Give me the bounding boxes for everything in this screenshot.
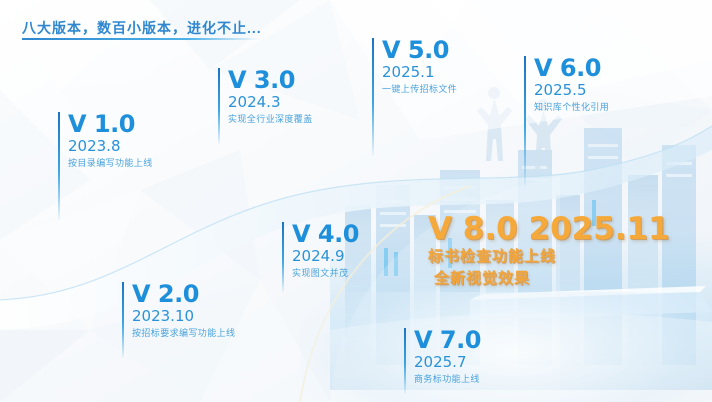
milestone-version: V 3.0 bbox=[228, 68, 313, 93]
milestone-connector-bar bbox=[122, 282, 124, 358]
milestone-description: 知识库个性化引用 bbox=[534, 100, 609, 114]
highlight-version: V 8.0 bbox=[428, 211, 518, 247]
milestone-description: 实现图文并茂 bbox=[292, 266, 359, 280]
milestone-date: 2023.8 bbox=[68, 137, 153, 156]
milestone-version: V 5.0 bbox=[382, 38, 457, 63]
milestone-date: 2025.5 bbox=[534, 81, 609, 100]
page-title: 八大版本，数百小版本，进化不止... bbox=[22, 18, 262, 38]
milestone-connector-bar bbox=[58, 112, 60, 220]
milestone-item: V 3.02024.3实现全行业深度覆盖 bbox=[218, 68, 313, 126]
highlight-date: 2025.11 bbox=[529, 211, 670, 247]
milestone-connector-bar bbox=[282, 222, 284, 292]
milestone-date: 2025.1 bbox=[382, 63, 457, 82]
milestone-description: 按目录编写功能上线 bbox=[68, 156, 153, 170]
milestone-version: V 4.0 bbox=[292, 222, 359, 247]
version-timeline-poster: 八大版本，数百小版本，进化不止... V 1.02023.8按目录编写功能上线V… bbox=[0, 0, 712, 402]
milestone-item: V 6.02025.5知识库个性化引用 bbox=[524, 56, 609, 114]
milestone-item: V 4.02024.9实现图文并茂 bbox=[282, 222, 359, 280]
milestone-date: 2024.9 bbox=[292, 247, 359, 266]
milestone-description: 商务标功能上线 bbox=[414, 372, 481, 386]
milestone-item: V 2.02023.10按招标要求编写功能上线 bbox=[122, 282, 235, 340]
highlight-line-1: 标书检查功能上线 bbox=[428, 246, 670, 268]
highlight-version-date: V 8.0 2025.11 bbox=[428, 212, 670, 246]
milestone-connector-bar bbox=[524, 56, 526, 186]
milestone-connector-bar bbox=[372, 38, 374, 156]
milestone-version: V 7.0 bbox=[414, 328, 481, 353]
milestone-description: 一键上传招标文件 bbox=[382, 82, 457, 96]
milestone-description: 实现全行业深度覆盖 bbox=[228, 112, 313, 126]
milestone-date: 2023.10 bbox=[132, 307, 235, 326]
milestone-item: V 1.02023.8按目录编写功能上线 bbox=[58, 112, 153, 170]
milestone-date: 2025.7 bbox=[414, 353, 481, 372]
milestone-version: V 1.0 bbox=[68, 112, 153, 137]
milestone-version: V 6.0 bbox=[534, 56, 609, 81]
floor-reflection bbox=[330, 313, 712, 402]
milestone-date: 2024.3 bbox=[228, 93, 313, 112]
milestone-connector-bar bbox=[218, 68, 220, 144]
highlight-line-2: 全新视觉效果 bbox=[434, 268, 670, 290]
milestone-item: V 5.02025.1一键上传招标文件 bbox=[372, 38, 457, 96]
milestone-version: V 2.0 bbox=[132, 282, 235, 307]
floor-glow bbox=[300, 292, 712, 402]
milestone-connector-bar bbox=[404, 328, 406, 394]
highlight-release: V 8.0 2025.11 标书检查功能上线 全新视觉效果 bbox=[428, 212, 670, 290]
milestone-item: V 7.02025.7商务标功能上线 bbox=[404, 328, 481, 386]
milestone-description: 按招标要求编写功能上线 bbox=[132, 326, 235, 340]
title-underline bbox=[22, 38, 260, 40]
